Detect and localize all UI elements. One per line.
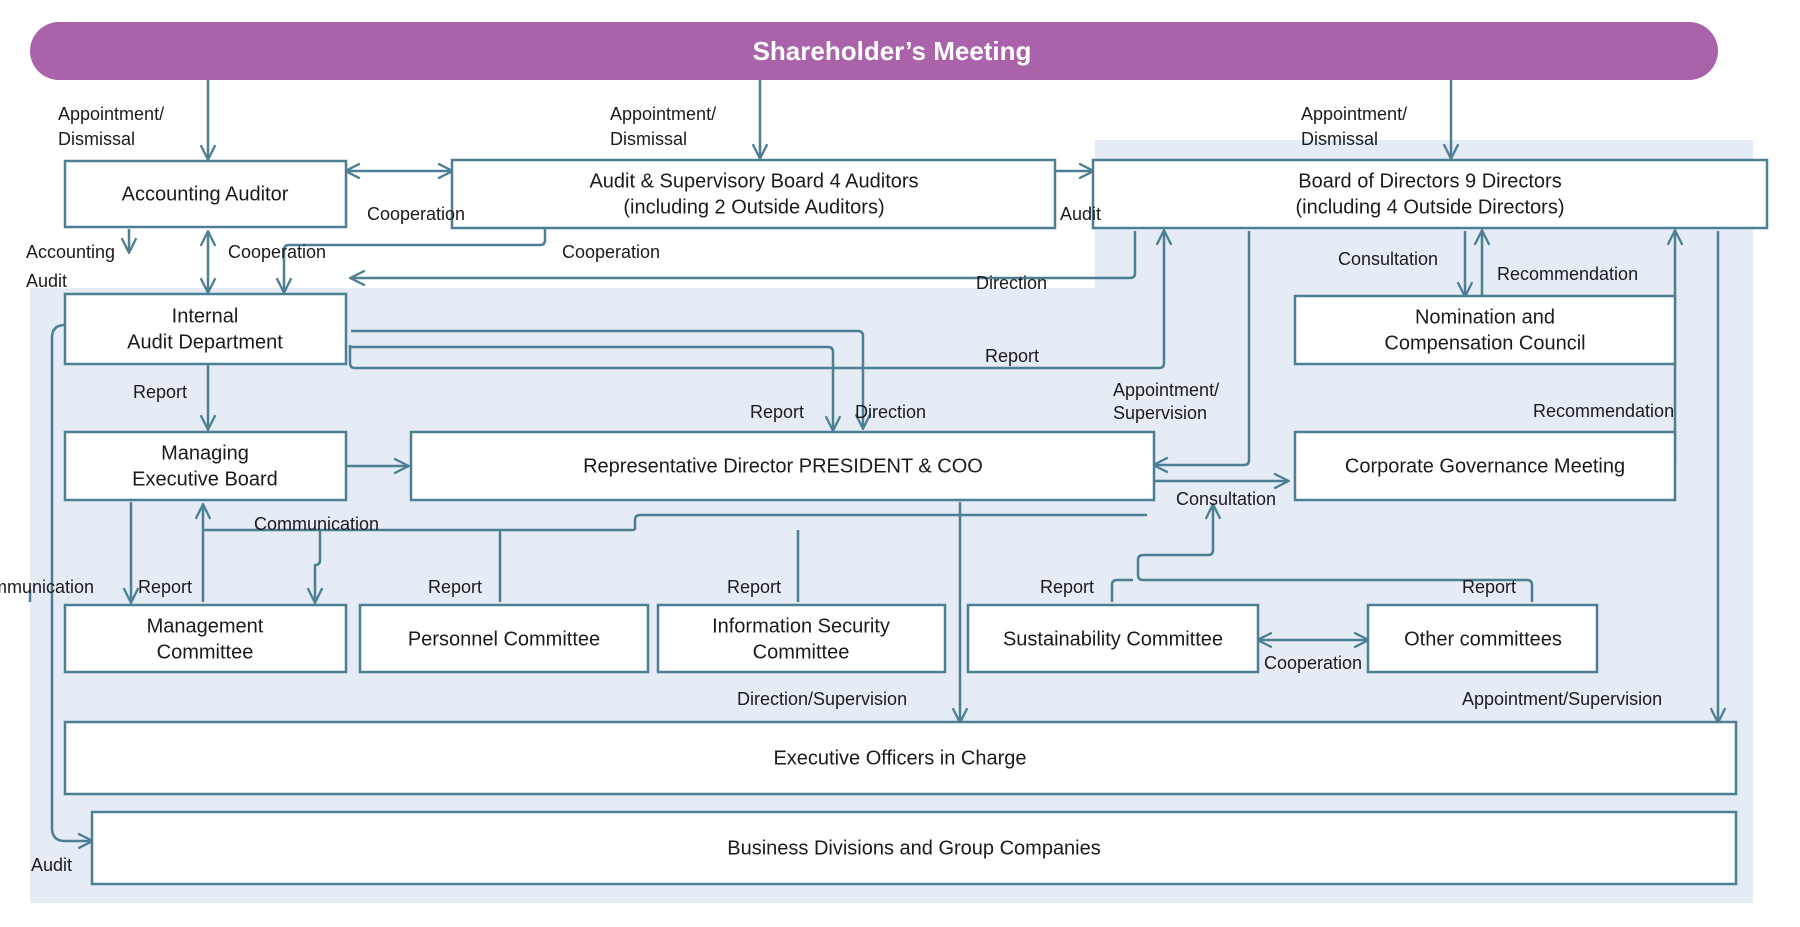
shareholders-meeting-title: Shareholder’s Meeting	[753, 36, 1032, 66]
box-sustainability-committee[interactable]: Sustainability Committee	[968, 605, 1258, 672]
label-accounting-audit-line1: Accounting	[26, 242, 115, 262]
box-corporate-governance-meeting-label: Corporate Governance Meeting	[1345, 455, 1625, 477]
box-managing-executive-board-line1: Managing	[161, 442, 249, 464]
label-cooperation-auditor-internal-audit: Cooperation	[228, 242, 326, 262]
label-cooperation-audit-board-internal-audit: Cooperation	[562, 242, 660, 262]
label-appointment-supervision-executive-officers: Appointment/Supervision	[1462, 689, 1662, 709]
label-appointment-supervision-board-president-line1: Appointment/	[1113, 380, 1219, 400]
label-report-sustainability-committee: Report	[1040, 577, 1094, 597]
box-sustainability-committee-label: Sustainability Committee	[1003, 628, 1223, 650]
box-information-security-committee-line1: Information Security	[712, 615, 890, 637]
label-communication-committees: Communication	[254, 514, 379, 534]
box-information-security-committee[interactable]: Information Security Committee	[658, 605, 945, 672]
box-personnel-committee[interactable]: Personnel Committee	[360, 605, 648, 672]
box-audit-supervisory-board[interactable]: Audit & Supervisory Board 4 Auditors (in…	[452, 160, 1055, 228]
label-consultation-board-to-nomination: Consultation	[1338, 249, 1438, 269]
box-audit-supervisory-board-line1: Audit & Supervisory Board 4 Auditors	[589, 170, 918, 192]
box-executive-officers[interactable]: Executive Officers in Charge	[65, 722, 1736, 794]
label-audit-internal-to-divisions: Audit	[31, 855, 72, 875]
box-other-committees-label: Other committees	[1404, 628, 1562, 650]
label-report-president-to-internal-audit: Report	[750, 402, 804, 422]
box-information-security-committee-line2: Committee	[753, 641, 850, 663]
label-cooperation-sustainability-other: Cooperation	[1264, 653, 1362, 673]
box-internal-audit-department-line1: Internal	[172, 305, 239, 327]
label-direction-board-to-internal-audit: Direction	[976, 273, 1047, 293]
label-report-internal-audit-to-board: Report	[985, 346, 1039, 366]
label-accounting-audit-line2: Audit	[26, 271, 67, 291]
box-management-committee-line2: Committee	[157, 641, 254, 663]
box-audit-supervisory-board-line2: (including 2 Outside Auditors)	[623, 196, 884, 218]
label-appointment-dismissal-2-line1: Appointment/	[610, 104, 716, 124]
box-business-divisions[interactable]: Business Divisions and Group Companies	[92, 812, 1736, 884]
label-appointment-dismissal-3-line1: Appointment/	[1301, 104, 1407, 124]
shareholders-meeting-header: Shareholder’s Meeting	[30, 22, 1718, 80]
governance-diagram: Shareholder’s Meeting	[0, 0, 1800, 927]
label-appointment-supervision-board-president-line2: Supervision	[1113, 403, 1207, 423]
governance-diagram-canvas: Shareholder’s Meeting	[0, 0, 1800, 927]
label-report-personnel-committee: Report	[428, 577, 482, 597]
box-business-divisions-label: Business Divisions and Group Companies	[727, 837, 1101, 859]
box-board-of-directors-line1: Board of Directors 9 Directors	[1298, 170, 1561, 192]
box-president-coo-label: Representative Director PRESIDENT & COO	[583, 455, 983, 477]
box-nomination-compensation-council[interactable]: Nomination and Compensation Council	[1295, 296, 1675, 364]
label-recommendation-governance-to-board: Recommendation	[1533, 401, 1674, 421]
label-direction-supervision-executive-officers: Direction/Supervision	[737, 689, 907, 709]
box-executive-officers-label: Executive Officers in Charge	[773, 747, 1026, 769]
box-personnel-committee-label: Personnel Committee	[408, 628, 600, 650]
label-direction-internal-audit-to-president: Direction	[855, 402, 926, 422]
box-internal-audit-department-line2: Audit Department	[127, 331, 283, 353]
label-cooperation-auditor-audit-board: Cooperation	[367, 204, 465, 224]
box-board-of-directors[interactable]: Board of Directors 9 Directors (includin…	[1093, 160, 1767, 228]
box-management-committee-line1: Management	[147, 615, 264, 637]
box-corporate-governance-meeting[interactable]: Corporate Governance Meeting	[1295, 432, 1675, 500]
box-board-of-directors-line2: (including 4 Outside Directors)	[1296, 196, 1565, 218]
label-report-other-committees: Report	[1462, 577, 1516, 597]
box-management-committee[interactable]: Management Committee	[65, 605, 346, 672]
label-recommendation-nomination-to-board: Recommendation	[1497, 264, 1638, 284]
label-appointment-dismissal-1-line2: Dismissal	[58, 129, 135, 149]
box-president-coo[interactable]: Representative Director PRESIDENT & COO	[411, 432, 1154, 500]
box-internal-audit-department[interactable]: Internal Audit Department	[65, 294, 346, 364]
box-nomination-compensation-council-line2: Compensation Council	[1384, 332, 1585, 354]
box-nomination-compensation-council-line1: Nomination and	[1415, 306, 1555, 328]
box-managing-executive-board-line2: Executive Board	[132, 468, 278, 490]
label-report-management-committee: Report	[138, 577, 192, 597]
label-consultation-president-governance: Consultation	[1176, 489, 1276, 509]
label-report-infosec-committee: Report	[727, 577, 781, 597]
box-other-committees[interactable]: Other committees	[1368, 605, 1597, 672]
label-communication-left-edge: mmunication	[0, 577, 94, 597]
box-accounting-auditor-label: Accounting Auditor	[122, 183, 289, 205]
label-audit-board-to-board-of-directors: Audit	[1060, 204, 1101, 224]
label-appointment-dismissal-3-line2: Dismissal	[1301, 129, 1378, 149]
label-appointment-dismissal-1-line1: Appointment/	[58, 104, 164, 124]
box-managing-executive-board[interactable]: Managing Executive Board	[65, 432, 346, 500]
box-accounting-auditor[interactable]: Accounting Auditor	[65, 161, 346, 227]
label-report-internal-audit-to-managing: Report	[133, 382, 187, 402]
label-appointment-dismissal-2-line2: Dismissal	[610, 129, 687, 149]
